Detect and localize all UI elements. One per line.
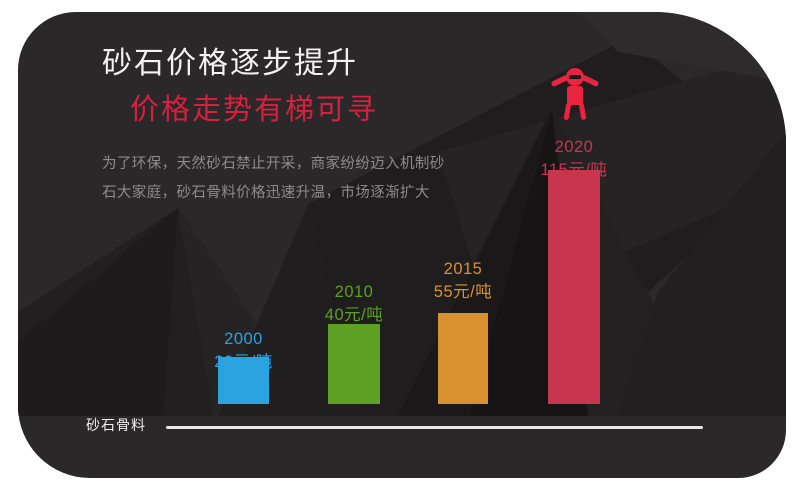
bar-year-2015: 2015: [408, 258, 518, 281]
person-leg-right: [579, 103, 587, 121]
bar-label-2000: 2000 20元/吨: [188, 328, 299, 374]
bar-2010[interactable]: [328, 324, 380, 404]
dark-panel: 砂石价格逐步提升 价格走势有梯可寻 为了环保，天然砂石禁止开采，商家纷纷迈入机制…: [18, 12, 786, 478]
bar-price-2020: 115元/吨: [518, 159, 630, 182]
bar-year-2010: 2010: [298, 281, 410, 304]
page-title: 砂石价格逐步提升: [102, 46, 482, 82]
person-torso: [567, 86, 583, 105]
infographic-canvas: 砂石价格逐步提升 价格走势有梯可寻 为了环保，天然砂石禁止开采，商家纷纷迈入机制…: [0, 0, 800, 490]
bar-2020[interactable]: [548, 170, 600, 404]
bar-label-2020: 2020 115元/吨: [518, 136, 630, 182]
person-arm-right: [581, 74, 600, 87]
bar-label-2010: 2010 40元/吨: [298, 281, 410, 327]
person-visor: [569, 75, 581, 79]
bar-label-2015: 2015 55元/吨: [408, 258, 518, 304]
baseline-label: 砂石骨料: [86, 415, 146, 435]
bar-year-2000: 2000: [188, 328, 299, 351]
bar-price-2015: 55元/吨: [408, 281, 518, 304]
bar-year-2020: 2020: [518, 136, 630, 159]
baseline-rule: [166, 426, 703, 429]
page-subtitle: 价格走势有梯可寻: [130, 92, 482, 128]
person-leg-left: [563, 103, 571, 121]
bar-2015[interactable]: [438, 313, 488, 404]
bar-price-2000: 20元/吨: [188, 351, 299, 374]
bar-price-2010: 40元/吨: [298, 304, 410, 327]
person-arm-left: [551, 74, 570, 87]
description-paragraph: 为了环保，天然砂石禁止开采，商家纷纷迈入机制砂石大家庭，砂石骨料价格迅速升温，市…: [102, 150, 454, 208]
text-block: 砂石价格逐步提升 价格走势有梯可寻 为了环保，天然砂石禁止开采，商家纷纷迈入机制…: [102, 46, 482, 208]
celebrating-person-icon: [549, 64, 601, 122]
